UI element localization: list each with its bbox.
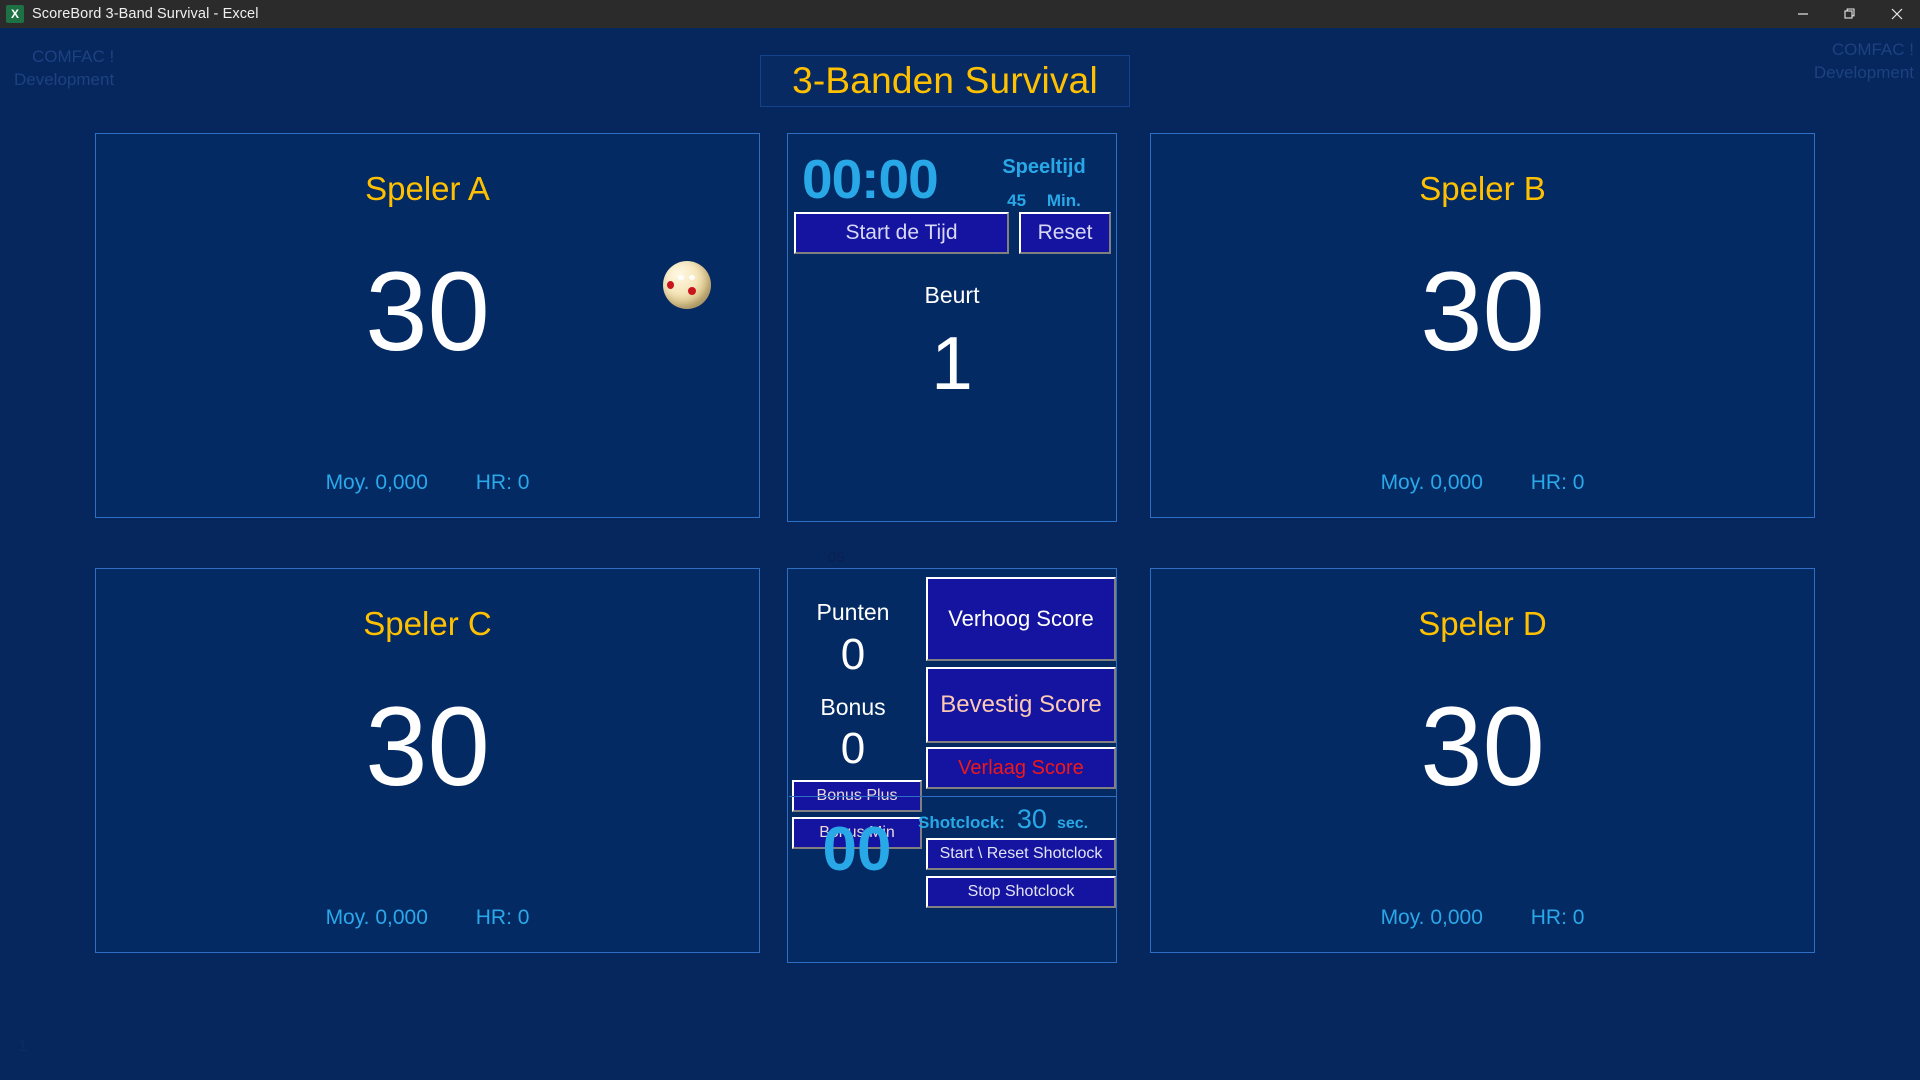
stop-shotclock-button[interactable]: Stop Shotclock <box>926 876 1116 908</box>
inning-label: Beurt <box>788 282 1116 309</box>
watermark-left: COMFAC ! Development <box>8 45 188 91</box>
player-d-average: Moy. 0,000 <box>1381 906 1483 929</box>
player-panel-b[interactable]: Speler B 30 Moy. 0,000 HR: 0 <box>1150 133 1815 518</box>
watermark-right: COMFAC ! Development <box>1738 38 1918 84</box>
page-title: 3-Banden Survival <box>792 60 1098 102</box>
player-d-highrun: HR: 0 <box>1531 906 1585 929</box>
watermark-right-line2: Development <box>1738 61 1918 84</box>
points-value: 0 <box>788 631 918 679</box>
confirm-score-button[interactable]: Bevestig Score <box>926 667 1116 743</box>
player-b-name: Speler B <box>1151 170 1814 208</box>
shotclock-settings-row: Shotclock: 30 sec. <box>918 804 1118 835</box>
window-titlebar: X ScoreBord 3-Band Survival - Excel <box>0 0 1920 28</box>
player-b-average: Moy. 0,000 <box>1381 471 1483 494</box>
decrease-score-button[interactable]: Verlaag Score <box>926 747 1116 789</box>
playtime-unit: Min. <box>1047 191 1081 210</box>
playtime-label: Speeltijd <box>984 156 1104 179</box>
close-icon[interactable] <box>1873 0 1920 28</box>
player-d-stats: Moy. 0,000 HR: 0 <box>1151 906 1814 930</box>
status-corner-marker: 1 <box>18 1036 27 1056</box>
player-b-stats: Moy. 0,000 HR: 0 <box>1151 471 1814 495</box>
minimize-icon[interactable] <box>1779 0 1826 28</box>
player-a-name: Speler A <box>96 170 759 208</box>
bonus-label: Bonus <box>788 694 918 721</box>
playtime-value-row: 45 Min. <box>984 191 1104 211</box>
player-a-score: 30 <box>96 256 759 368</box>
reset-time-button[interactable]: Reset <box>1019 212 1111 254</box>
watermark-right-line1: COMFAC ! <box>1738 38 1918 61</box>
player-panel-a[interactable]: Speler A 30 Moy. 0,000 HR: 0 <box>95 133 760 518</box>
shotclock-unit: sec. <box>1057 815 1088 833</box>
player-b-score: 30 <box>1151 256 1814 368</box>
watermark-left-line1: COMFAC ! <box>8 45 188 68</box>
player-c-stats: Moy. 0,000 HR: 0 <box>96 906 759 930</box>
player-c-name: Speler C <box>96 605 759 643</box>
window-title: ScoreBord 3-Band Survival - Excel <box>32 6 259 22</box>
bonus-value: 0 <box>788 725 918 773</box>
timer-panel: 00:00 Speeltijd 45 Min. Start de Tijd Re… <box>787 133 1117 522</box>
restore-icon[interactable] <box>1826 0 1873 28</box>
excel-icon-letter: X <box>11 7 19 21</box>
player-panel-c[interactable]: Speler C 30 Moy. 0,000 HR: 0 <box>95 568 760 953</box>
player-a-average: Moy. 0,000 <box>326 471 428 494</box>
shotclock-display: 00 <box>796 817 918 883</box>
points-label: Punten <box>788 599 918 626</box>
score-control-panel: Punten 0 Bonus 0 Bonus Plus Bonus Min Ve… <box>787 568 1117 963</box>
player-a-highrun: HR: 0 <box>476 471 530 494</box>
inning-value: 1 <box>788 324 1116 402</box>
player-c-score: 30 <box>96 691 759 803</box>
player-c-average: Moy. 0,000 <box>326 906 428 929</box>
playtime-minutes: 45 <box>1007 191 1026 210</box>
player-b-highrun: HR: 0 <box>1531 471 1585 494</box>
stray-cell-value: 05 <box>828 549 845 566</box>
start-reset-shotclock-button[interactable]: Start \ Reset Shotclock <box>926 838 1116 870</box>
player-c-highrun: HR: 0 <box>476 906 530 929</box>
excel-icon: X <box>6 5 24 23</box>
player-d-name: Speler D <box>1151 605 1814 643</box>
watermark-left-line2: Development <box>8 68 188 91</box>
player-d-score: 30 <box>1151 691 1814 803</box>
shotclock-seconds: 30 <box>1017 804 1047 835</box>
increase-score-button[interactable]: Verhoog Score <box>926 577 1116 661</box>
panel-divider <box>789 796 1117 797</box>
scoreboard-sheet: COMFAC ! Development COMFAC ! Developmen… <box>0 28 1920 1080</box>
start-time-button[interactable]: Start de Tijd <box>794 212 1009 254</box>
shotclock-label: Shotclock: <box>918 813 1005 833</box>
window-controls <box>1779 0 1920 28</box>
match-clock-display: 00:00 <box>802 150 938 208</box>
player-panel-d[interactable]: Speler D 30 Moy. 0,000 HR: 0 <box>1150 568 1815 953</box>
app-title-box: 3-Banden Survival <box>760 55 1130 107</box>
player-a-stats: Moy. 0,000 HR: 0 <box>96 471 759 495</box>
